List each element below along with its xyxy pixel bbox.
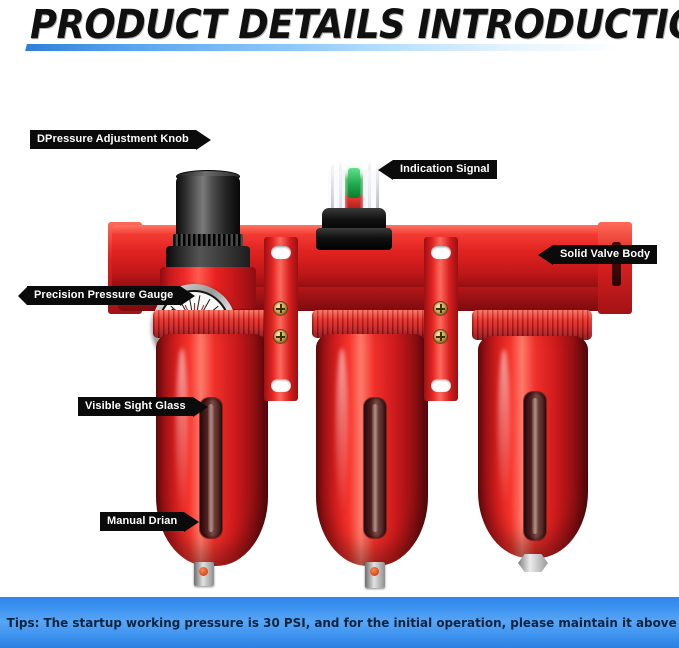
regulator-sight-glass-rod: [208, 404, 214, 533]
pressure-adjustment-knob[interactable]: [176, 176, 240, 239]
indicator-black-base: [316, 228, 392, 250]
callout-arrow-right-icon-4: [184, 512, 199, 532]
callout-label-manual-drain: Manual Drian: [100, 512, 184, 531]
bracket-slot-bottom: [271, 379, 291, 392]
bracket-slot-bottom-2: [431, 379, 451, 392]
callout-solid-valve-body[interactable]: Solid Valve Body: [538, 245, 657, 264]
bracket-slot-top-2: [431, 246, 451, 259]
callout-precision-pressure-gauge[interactable]: Precision Pressure Gauge: [18, 286, 195, 305]
bracket-screw-upper-right: [434, 302, 447, 315]
mounting-bracket-left: [264, 237, 298, 401]
callout-label-precision-pressure-gauge: Precision Pressure Gauge: [27, 286, 180, 305]
tips-banner-text: Tips: The startup working pressure is 30…: [0, 615, 679, 630]
center-drain-knob-dot[interactable]: [370, 567, 379, 576]
callout-arrow-right-icon: [196, 130, 211, 150]
callout-label-indication-signal: Indication Signal: [393, 160, 497, 179]
callout-arrow-left-small-icon: [18, 287, 27, 305]
callout-arrow-left-icon: [378, 160, 393, 180]
bracket-screw-lower-right: [434, 330, 447, 343]
bracket-slot-top: [271, 246, 291, 259]
callout-arrow-right-icon-2: [180, 286, 195, 306]
page-header: PRODUCT DETAILS INTRODUCTION: [0, 0, 679, 62]
right-bowl-highlight: [498, 349, 510, 509]
tips-banner: Tips: The startup working pressure is 30…: [0, 597, 679, 648]
callout-label-visible-sight-glass: Visible Sight Glass: [78, 397, 193, 416]
page-title: PRODUCT DETAILS INTRODUCTION: [30, 2, 679, 48]
indicator-green-band: [348, 168, 360, 198]
regulator-sight-glass: [200, 398, 222, 538]
callout-visible-sight-glass[interactable]: Visible Sight Glass: [78, 397, 208, 416]
bracket-screw-lower-left: [274, 330, 287, 343]
callout-manual-drain[interactable]: Manual Drian: [100, 512, 199, 531]
center-sight-glass-rod: [372, 404, 378, 533]
bracket-screw-upper-left: [274, 302, 287, 315]
regulator-drain-knob-dot[interactable]: [199, 567, 208, 576]
callout-label-solid-valve-body: Solid Valve Body: [553, 245, 657, 264]
center-sight-glass: [364, 398, 386, 538]
callout-arrow-right-icon-3: [193, 397, 208, 417]
mounting-bracket-right: [424, 237, 458, 401]
product-illustration: PSI MPa psi: [0, 62, 679, 597]
callout-arrow-left-icon-2: [538, 245, 553, 265]
callout-label-pressure-adjustment-knob: DPressure Adjustment Knob: [30, 130, 196, 149]
center-bowl-highlight: [336, 348, 348, 515]
right-sight-glass-rod: [532, 398, 538, 534]
callout-pressure-adjustment-knob[interactable]: DPressure Adjustment Knob: [30, 130, 211, 149]
regulator-bowl-highlight: [176, 348, 188, 515]
callout-indication-signal[interactable]: Indication Signal: [378, 160, 497, 179]
right-sight-glass: [524, 392, 546, 540]
